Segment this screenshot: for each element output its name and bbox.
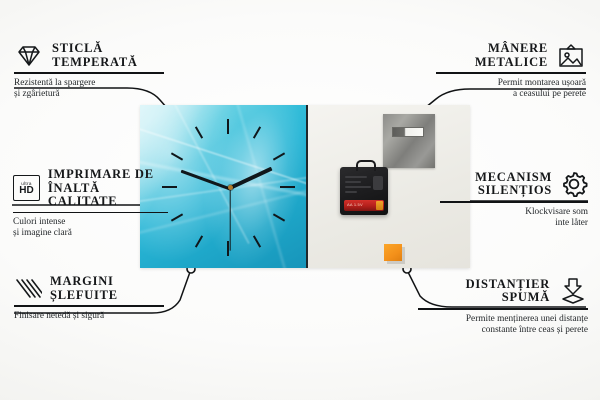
metal-hanger [383, 114, 435, 168]
foam-spacer-part [384, 244, 402, 261]
callout-description: Finisare netedă și sigură [14, 311, 164, 322]
callout-description: Rezistentă la spargere și zgârietură [14, 78, 164, 100]
clock-mechanism: AA 1.5V [340, 167, 388, 215]
second-hand [229, 188, 230, 250]
callout-description: Permite menținerea unei distanțe constan… [418, 314, 588, 336]
arrow-down-layers-icon [558, 277, 588, 305]
callout-foam-spacer: DISTANȚIER SPUMĂ Permite menținerea unei… [418, 277, 588, 336]
callout-title: STICLĂ TEMPERATĂ [52, 42, 138, 69]
callout-rule [440, 201, 588, 203]
callout-description: Klockvisare som inte låter [440, 207, 588, 229]
battery-label: AA 1.5V [347, 202, 363, 207]
infographic-canvas: AA 1.5V STICLĂ TEMPERATĂ Rezistentă la s… [0, 0, 600, 400]
gear-icon [560, 170, 588, 198]
callout-description: Permit montarea ușoară a ceasului pe per… [436, 78, 586, 100]
callout-title: MECANISM SILENȚIOS [475, 171, 552, 198]
mechanism-detail [345, 176, 367, 178]
picture-hanger-icon [556, 43, 586, 69]
callout-rule [436, 72, 586, 74]
callout-title: IMPRIMARE DE ÎNALTĂ CALITATE [48, 168, 168, 209]
mechanism-detail [345, 191, 357, 193]
callout-polished-edges: MARGINI ȘLEFUITE Finisare netedă și sigu… [14, 275, 164, 322]
mechanism-loop [356, 160, 376, 171]
callout-description: Culori intense și imagine clară [13, 217, 168, 239]
battery-terminal [376, 201, 383, 210]
hour-marker [227, 119, 229, 134]
product-photo: AA 1.5V [140, 105, 470, 268]
mechanism-detail [373, 176, 383, 190]
callout-rule [418, 308, 588, 310]
mechanism-detail [345, 181, 361, 183]
callout-metal-handles: MÂNERE METALICE Permit montarea ușoară a… [436, 42, 586, 100]
callout-tempered-glass: STICLĂ TEMPERATĂ Rezistentă la spargere … [14, 42, 164, 100]
hour-marker [280, 186, 295, 188]
callout-rule [13, 212, 168, 214]
hanger-slot [392, 127, 424, 137]
callout-title: MARGINI ȘLEFUITE [50, 275, 118, 302]
callout-title: DISTANȚIER SPUMĂ [466, 278, 550, 305]
mechanism-detail [345, 186, 371, 188]
polished-edges-icon [14, 277, 42, 301]
callout-rule [14, 72, 164, 74]
callout-hd-print: ultra HD IMPRIMARE DE ÎNALTĂ CALITATE Cu… [13, 168, 168, 239]
diamond-icon [14, 44, 44, 68]
callout-rule [14, 305, 164, 307]
ultra-hd-icon-main: HD [19, 186, 33, 196]
ultra-hd-icon: ultra HD [13, 175, 40, 201]
battery: AA 1.5V [344, 200, 384, 211]
callout-title: MÂNERE METALICE [475, 42, 548, 69]
clock-pivot [228, 185, 233, 190]
callout-silent-mechanism: MECANISM SILENȚIOS Klockvisare som inte … [440, 170, 588, 229]
